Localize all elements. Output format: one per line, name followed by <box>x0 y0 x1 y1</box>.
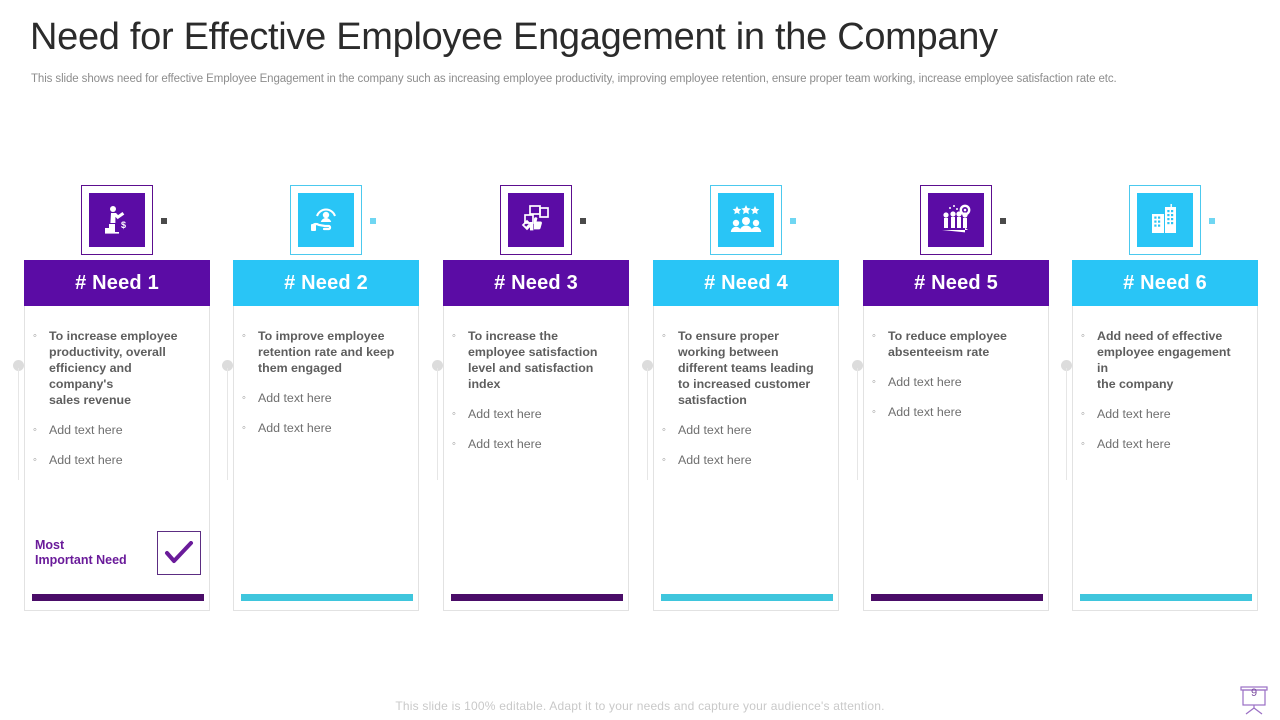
connector-line <box>18 368 19 480</box>
icon-frame <box>500 185 572 255</box>
list-item-label: To ensure proper working between differe… <box>678 328 826 408</box>
card-accent-bar <box>661 594 833 601</box>
bullet-icon: ◦ <box>452 436 468 452</box>
list-item-label: Add text here <box>1097 406 1171 422</box>
card-header-label: # Need 6 <box>1123 272 1207 295</box>
card-icon-area <box>653 185 839 260</box>
card-header-bar[interactable]: # Need 6 <box>1072 260 1258 306</box>
list-item: ◦ To increase employee productivity, ove… <box>33 328 197 408</box>
icon-frame <box>1129 185 1201 255</box>
need-card-4[interactable]: # Need 4 ◦ To ensure proper working betw… <box>653 185 839 260</box>
list-item: ◦ To improve employee retention rate and… <box>242 328 406 376</box>
list-item: ◦ Add text here <box>242 420 406 436</box>
card-accent-bar <box>1080 594 1252 601</box>
footer-note: This slide is 100% editable. Adapt it to… <box>0 699 1280 713</box>
card-accent-bar <box>241 594 413 601</box>
card-accent-bar <box>32 594 204 601</box>
icon-frame <box>710 185 782 255</box>
card-header-bar[interactable]: # Need 1 <box>24 260 210 306</box>
list-item-label: Add text here <box>468 436 542 452</box>
need-card-6[interactable]: # Need 6 ◦ Add need of effective employe… <box>1072 185 1258 260</box>
card-list: ◦ To increase employee productivity, ove… <box>25 306 209 468</box>
bullet-icon: ◦ <box>1081 406 1097 422</box>
list-item-label: Add text here <box>258 390 332 406</box>
card-list: ◦ To reduce employee absenteeism rate ◦ … <box>864 306 1048 420</box>
card-accent-bar <box>451 594 623 601</box>
need-card-5[interactable]: # Need 5 ◦ To reduce employee absenteeis… <box>863 185 1049 260</box>
icon-handle-nub <box>580 218 586 224</box>
most-important-need-label: MostImportant Need <box>35 538 127 568</box>
card-body: ◦ To ensure proper working between diffe… <box>653 306 839 611</box>
card-body: ◦ To increase employee productivity, ove… <box>24 306 210 611</box>
card-header-bar[interactable]: # Need 3 <box>443 260 629 306</box>
icon-handle-nub <box>1209 218 1215 224</box>
list-item: ◦ Add text here <box>33 422 197 438</box>
card-header-label: # Need 1 <box>75 272 159 295</box>
bullet-icon: ◦ <box>662 328 678 408</box>
team-stars-rating-icon <box>718 193 774 247</box>
page-title: Need for Effective Employee Engagement i… <box>30 16 998 59</box>
list-item-label: Add need of effective employee engagemen… <box>1097 328 1245 392</box>
icon-handle-nub <box>161 218 167 224</box>
card-list: ◦ To increase the employee satisfaction … <box>444 306 628 452</box>
bullet-icon: ◦ <box>33 422 49 438</box>
list-item: ◦ Add text here <box>1081 406 1245 422</box>
bullet-icon: ◦ <box>242 328 258 376</box>
card-list: ◦ Add need of effective employee engagem… <box>1073 306 1257 452</box>
bullet-icon: ◦ <box>242 420 258 436</box>
list-item-label: Add text here <box>258 420 332 436</box>
icon-frame: $ <box>81 185 153 255</box>
bullet-icon: ◦ <box>662 422 678 438</box>
list-item: ◦ Add text here <box>452 406 616 422</box>
needs-card-grid: $ # Need 1 ◦ To increase employee produc… <box>0 185 1280 615</box>
bullet-icon: ◦ <box>33 328 49 408</box>
list-item-label: To increase employee productivity, overa… <box>49 328 197 408</box>
list-item: ◦ Add text here <box>872 374 1036 390</box>
list-item-label: To improve employee retention rate and k… <box>258 328 406 376</box>
list-item: ◦ To increase the employee satisfaction … <box>452 328 616 392</box>
list-item: ◦ Add text here <box>662 422 826 438</box>
bullet-icon: ◦ <box>872 328 888 360</box>
card-list: ◦ To improve employee retention rate and… <box>234 306 418 436</box>
list-item-label: To increase the employee satisfaction le… <box>468 328 616 392</box>
list-item: ◦ Add text here <box>452 436 616 452</box>
connector-line <box>857 368 858 480</box>
checklist-thumbs-up-icon <box>508 193 564 247</box>
bullet-icon: ◦ <box>1081 436 1097 452</box>
bullet-icon: ◦ <box>452 328 468 392</box>
list-item: ◦ Add text here <box>33 452 197 468</box>
need-card-3[interactable]: # Need 3 ◦ To increase the employee sati… <box>443 185 629 260</box>
bullet-icon: ◦ <box>872 374 888 390</box>
list-item-label: Add text here <box>468 406 542 422</box>
card-body: ◦ To reduce employee absenteeism rate ◦ … <box>863 306 1049 611</box>
card-icon-area <box>233 185 419 260</box>
list-item-label: Add text here <box>888 374 962 390</box>
connector-line <box>227 368 228 480</box>
card-accent-bar <box>871 594 1043 601</box>
card-body: ◦ Add need of effective employee engagem… <box>1072 306 1258 611</box>
card-body: ◦ To improve employee retention rate and… <box>233 306 419 611</box>
card-header-label: # Need 5 <box>914 272 998 295</box>
list-item: ◦ To reduce employee absenteeism rate <box>872 328 1036 360</box>
list-item: ◦ Add text here <box>662 452 826 468</box>
card-header-label: # Need 4 <box>704 272 788 295</box>
card-icon-area <box>1072 185 1258 260</box>
need-card-1[interactable]: $ # Need 1 ◦ To increase employee produc… <box>24 185 210 260</box>
list-item: ◦ Add text here <box>242 390 406 406</box>
card-header-label: # Need 3 <box>494 272 578 295</box>
person-in-hand-retention-icon <box>298 193 354 247</box>
card-header-label: # Need 2 <box>284 272 368 295</box>
icon-frame <box>920 185 992 255</box>
card-body: ◦ To increase the employee satisfaction … <box>443 306 629 611</box>
list-item: ◦ Add text here <box>1081 436 1245 452</box>
card-header-bar[interactable]: # Need 4 <box>653 260 839 306</box>
card-header-bar[interactable]: # Need 2 <box>233 260 419 306</box>
page-number-badge: 9 <box>1238 685 1270 715</box>
bullet-icon: ◦ <box>1081 328 1097 392</box>
check-mark-icon <box>164 541 194 565</box>
bullet-icon: ◦ <box>33 452 49 468</box>
list-item-label: Add text here <box>49 422 123 438</box>
list-item-label: Add text here <box>888 404 962 420</box>
page-subtitle: This slide shows need for effective Empl… <box>31 73 1117 85</box>
list-item: ◦ Add text here <box>872 404 1036 420</box>
card-icon-area <box>443 185 629 260</box>
page-number: 9 <box>1238 687 1270 699</box>
card-icon-area <box>863 185 1049 260</box>
list-item-label: Add text here <box>678 452 752 468</box>
most-important-need-checkbox[interactable] <box>157 531 201 575</box>
person-climbing-steps-dollar-icon: $ <box>89 193 145 247</box>
bullet-icon: ◦ <box>242 390 258 406</box>
card-list: ◦ To ensure proper working between diffe… <box>654 306 838 468</box>
bullet-icon: ◦ <box>872 404 888 420</box>
list-item: ◦ To ensure proper working between diffe… <box>662 328 826 408</box>
list-item-label: Add text here <box>678 422 752 438</box>
people-gear-process-icon <box>928 193 984 247</box>
connector-line <box>647 368 648 480</box>
icon-handle-nub <box>370 218 376 224</box>
office-buildings-icon <box>1137 193 1193 247</box>
list-item: ◦ Add need of effective employee engagem… <box>1081 328 1245 392</box>
card-header-bar[interactable]: # Need 5 <box>863 260 1049 306</box>
need-card-2[interactable]: # Need 2 ◦ To improve employee retention… <box>233 185 419 260</box>
list-item-label: Add text here <box>49 452 123 468</box>
bullet-icon: ◦ <box>452 406 468 422</box>
svg-text:$: $ <box>121 220 126 230</box>
connector-line <box>437 368 438 480</box>
icon-frame <box>290 185 362 255</box>
card-icon-area: $ <box>24 185 210 260</box>
icon-handle-nub <box>790 218 796 224</box>
icon-handle-nub <box>1000 218 1006 224</box>
connector-line <box>1066 368 1067 480</box>
bullet-icon: ◦ <box>662 452 678 468</box>
slide: Need for Effective Employee Engagement i… <box>0 0 1280 720</box>
list-item-label: To reduce employee absenteeism rate <box>888 328 1036 360</box>
list-item-label: Add text here <box>1097 436 1171 452</box>
most-important-need: MostImportant Need <box>35 530 201 576</box>
